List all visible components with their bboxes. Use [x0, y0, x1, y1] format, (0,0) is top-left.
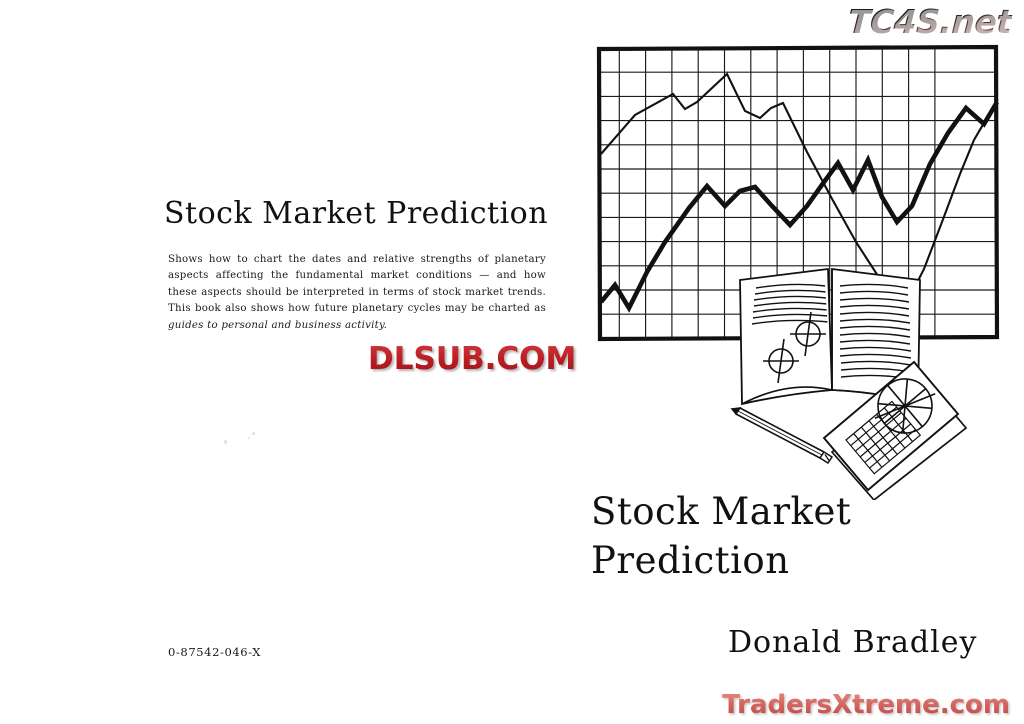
- watermark-tc4s: TC4S.net: [847, 2, 1013, 41]
- blurb-main-text: Shows how to chart the dates and relativ…: [168, 254, 546, 314]
- book-and-charts-illustration: [728, 262, 978, 500]
- watermark-tradersxtreme-fill: TradersXtreme.com: [722, 690, 1010, 720]
- back-cover-title: Stock Market Prediction: [164, 196, 564, 231]
- book-cover-scan: Stock Market Prediction Shows how to cha…: [0, 0, 1024, 724]
- front-cover-title: Stock Market Prediction: [591, 487, 1011, 585]
- front-title-line-1: Stock Market: [591, 487, 1011, 536]
- scan-speckle: [224, 440, 227, 444]
- watermark-dlsub-fill: DLSUB.COM: [368, 341, 576, 377]
- blurb-italic-text: guides to personal and business activity…: [168, 320, 387, 331]
- front-title-line-2: Prediction: [591, 536, 1011, 585]
- scan-speckle: [252, 432, 255, 435]
- pencil-icon: [732, 408, 832, 463]
- book-left-page: [740, 269, 832, 404]
- front-cover-panel: Stock Market Prediction Donald Bradley: [560, 0, 1024, 724]
- isbn-number: 0-87542-046-X: [168, 645, 261, 659]
- author-name: Donald Bradley: [728, 625, 977, 660]
- scan-speckle: [248, 437, 250, 439]
- back-cover-blurb: Shows how to chart the dates and relativ…: [168, 252, 546, 334]
